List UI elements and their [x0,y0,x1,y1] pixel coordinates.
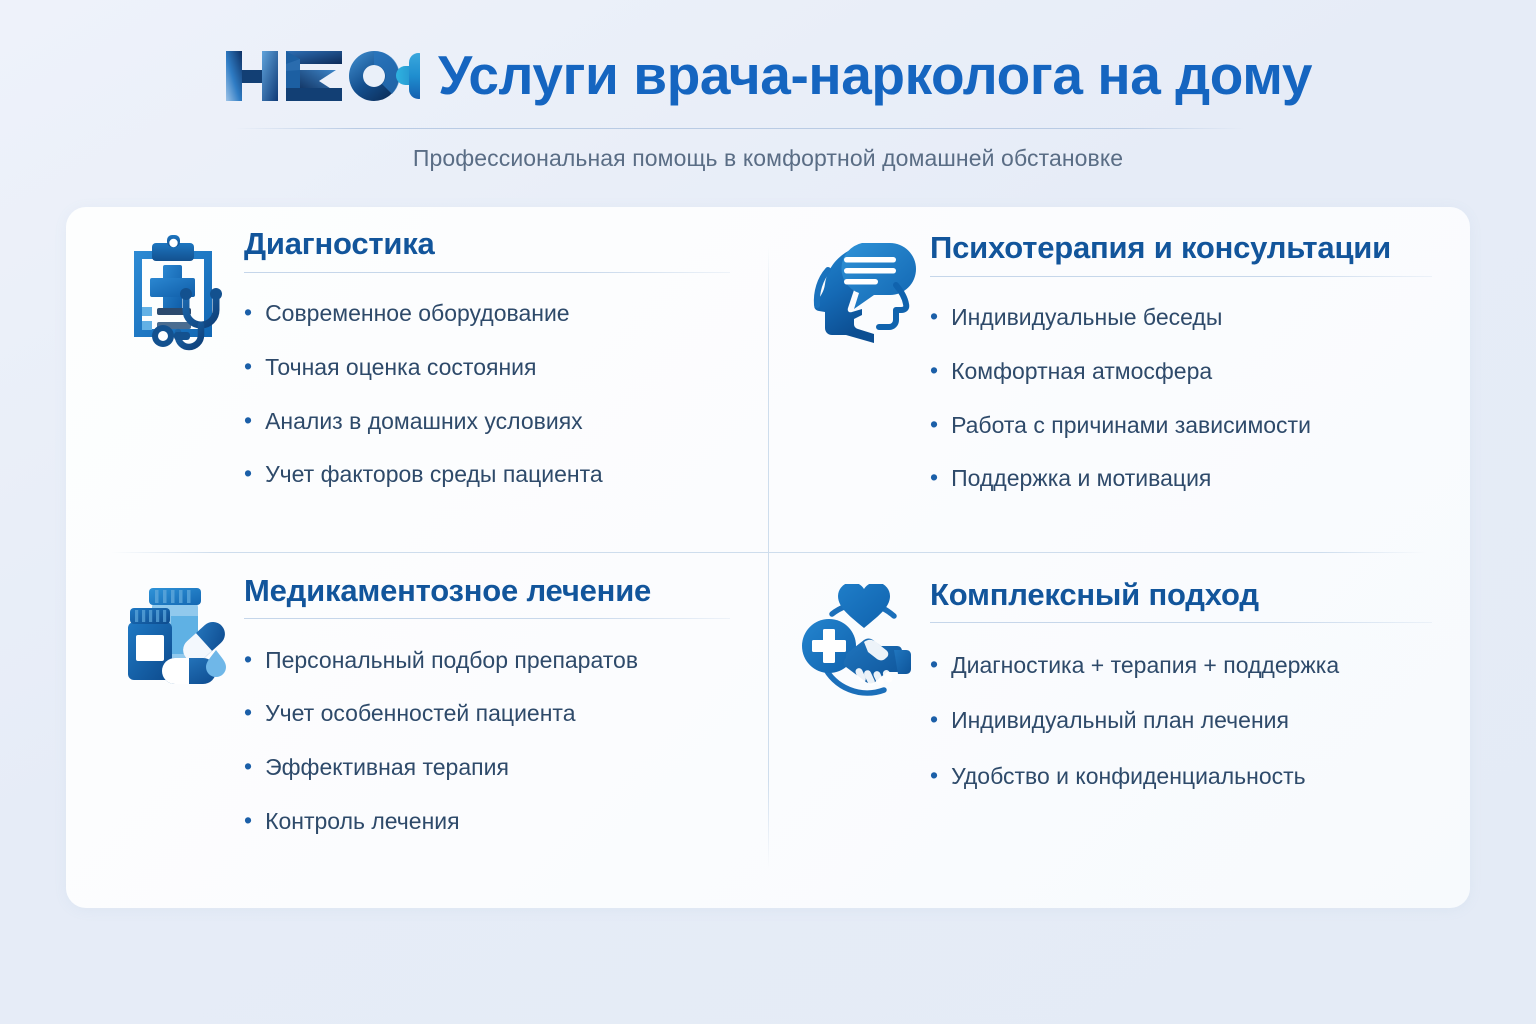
list-item-label: Учет особенностей пациента [265,699,575,728]
bullet-dot: • [930,708,938,731]
service-card-psychotherapy: Психотерапия и консультации • Индивидуал… [768,207,1470,558]
list-item: • Индивидуальный план лечения [930,693,1432,749]
bullet-dot: • [930,359,938,382]
list-item-label: Точная оценка состояния [265,353,536,382]
list-item-label: Поддержка и мотивация [951,464,1211,493]
list-item-label: Индивидуальные беседы [951,303,1222,332]
list-item: • Современное оборудование [244,287,730,341]
list-item-label: Комфортная атмосфера [951,357,1212,386]
service-card-diagnostics: Диагностика • Современное оборудование •… [66,207,768,558]
header: Услуги врача-нарколога на дому Профессио… [0,0,1536,200]
bullet-dot: • [930,466,938,489]
page-title: Услуги врача-нарколога на дому [438,48,1312,103]
service-card-medication: Медикаментозное лечение • Персональный п… [66,558,768,909]
list-item-label: Работа с причинами зависимости [951,411,1311,440]
list-item-label: Эффективная терапия [265,753,509,782]
header-divider [235,128,1245,129]
list-item: • Поддержка и мотивация [930,452,1432,506]
list-item: • Анализ в домашних условиях [244,394,730,448]
benefit-list: • Современное оборудование • Точная оцен… [244,273,730,502]
clipboard-stethoscope-icon [106,225,244,351]
bullet-dot: • [244,809,252,832]
service-card-complex-approach: Комплексный подход • Диагностика + терап… [768,558,1470,909]
list-item-label: Учет факторов среды пациента [265,460,603,489]
bullet-dot: • [244,701,252,724]
list-item-label: Диагностика + терапия + поддержка [951,651,1339,680]
infographic-page: Услуги врача-нарколога на дому Профессио… [0,0,1536,1024]
list-item-label: Контроль лечения [265,807,460,836]
benefit-list: • Индивидуальные беседы • Комфортная атм… [930,277,1432,506]
bullet-dot: • [930,413,938,436]
list-item: • Персональный подбор препаратов [244,633,730,687]
page-subtitle: Профессиональная помощь в комфортной дом… [0,145,1536,172]
benefit-list: • Персональный подбор препаратов • Учет … [244,619,730,848]
card-content: Диагностика • Современное оборудование •… [244,225,730,502]
list-item: • Удобство и конфиденциальность [930,749,1432,805]
bullet-dot: • [244,301,252,324]
bullet-dot: • [244,755,252,778]
card-content: Психотерапия и консультации • Индивидуал… [930,229,1432,506]
list-item-label: Анализ в домашних условиях [265,407,583,436]
list-item-label: Удобство и конфиденциальность [951,762,1306,791]
list-item: • Точная оценка состояния [244,340,730,394]
list-item: • Учет факторов среды пациента [244,448,730,502]
list-item: • Учет особенностей пациента [244,687,730,741]
list-item: • Индивидуальные беседы [930,291,1432,345]
bullet-dot: • [930,305,938,328]
list-item: • Контроль лечения [244,794,730,848]
benefit-list: • Диагностика + терапия + поддержка • Ин… [930,623,1432,804]
card-content: Комплексный подход • Диагностика + терап… [930,576,1432,805]
list-item-label: Современное оборудование [265,299,570,328]
head-speech-bubble-icon [792,229,930,355]
pill-bottles-icon [106,572,244,698]
bullet-dot: • [930,764,938,787]
bullet-dot: • [930,653,938,676]
services-board: Диагностика • Современное оборудование •… [66,207,1470,908]
bullet-dot: • [244,355,252,378]
list-item: • Работа с причинами зависимости [930,398,1432,452]
card-title: Медикаментозное лечение [244,574,730,609]
card-title: Диагностика [244,227,730,262]
title-row: Услуги врача-нарколога на дому [0,38,1536,112]
neo-plus-logo [224,38,420,112]
bullet-dot: • [244,409,252,432]
list-item-label: Индивидуальный план лечения [951,706,1289,735]
card-title: Комплексный подход [930,578,1432,613]
list-item: • Эффективная терапия [244,741,730,795]
list-item: • Диагностика + терапия + поддержка [930,637,1432,693]
card-title: Психотерапия и консультации [930,231,1432,266]
list-item: • Комфортная атмосфера [930,344,1432,398]
bullet-dot: • [244,462,252,485]
bullet-dot: • [244,648,252,671]
card-content: Медикаментозное лечение • Персональный п… [244,572,730,849]
list-item-label: Персональный подбор препаратов [265,646,638,675]
heart-handshake-cross-icon [792,576,930,702]
